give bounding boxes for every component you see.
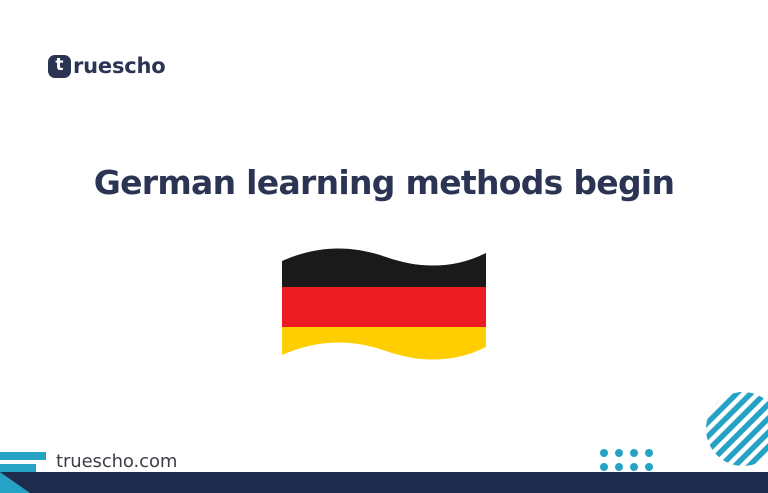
dot — [600, 449, 608, 457]
dot — [600, 463, 608, 471]
dot-grid-decoration — [600, 449, 653, 471]
slide-card: t ruescho German learning methods begin — [0, 0, 768, 493]
brand-name: ruescho — [73, 54, 165, 78]
page-title: German learning methods begin — [0, 163, 768, 202]
german-flag-icon — [278, 243, 490, 368]
flag-band-black — [278, 243, 490, 287]
footer-bottom-bar — [0, 472, 768, 493]
striped-circle-decoration — [706, 392, 768, 466]
accent-bar-bottom — [0, 464, 36, 472]
flag-band-red — [278, 287, 490, 327]
footer-bar-accent-triangle — [0, 472, 30, 493]
footer-website-url[interactable]: truescho.com — [56, 451, 177, 472]
german-flag-illustration — [0, 243, 768, 368]
accent-bar-top — [0, 452, 46, 460]
dot — [615, 463, 623, 471]
brand-mark-icon: t — [48, 55, 71, 78]
dot — [615, 449, 623, 457]
brand-logo[interactable]: t ruescho — [48, 52, 165, 80]
flag-band-gold — [278, 327, 490, 368]
dot — [630, 449, 638, 457]
brand-mark-letter: t — [55, 57, 63, 74]
dot — [645, 449, 653, 457]
striped-circle-icon — [706, 392, 768, 466]
dot — [630, 463, 638, 471]
dot — [645, 463, 653, 471]
